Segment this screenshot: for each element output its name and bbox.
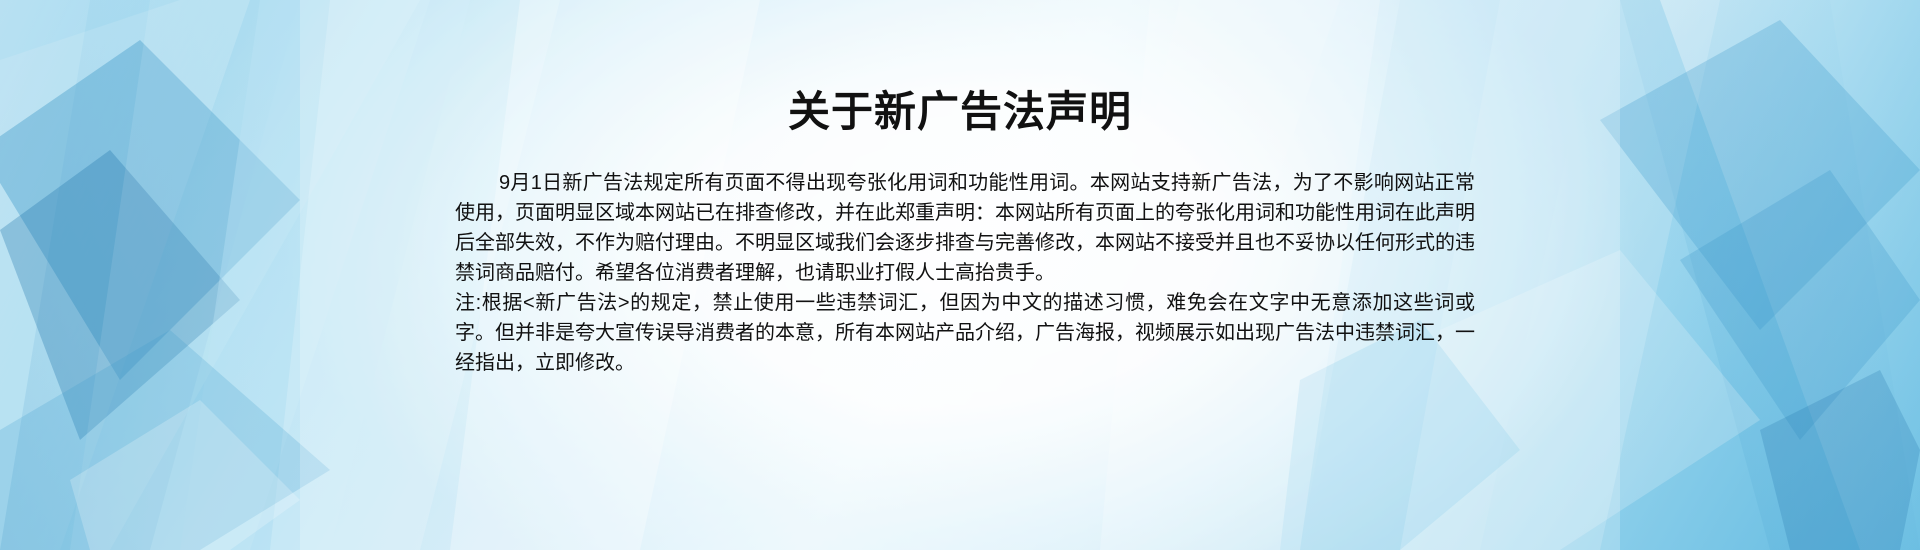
note-paragraph: 注:根据<新广告法>的规定，禁止使用一些违禁词汇，但因为中文的描述习惯，难免会在… — [455, 288, 1475, 378]
statement-paragraph: 9月1日新广告法规定所有页面不得出现夸张化用词和功能性用词。本网站支持新广告法，… — [455, 168, 1475, 288]
announcement-banner: 关于新广告法声明 9月1日新广告法规定所有页面不得出现夸张化用词和功能性用词。本… — [0, 0, 1920, 550]
page-title: 关于新广告法声明 — [0, 88, 1920, 136]
announcement-body: 9月1日新广告法规定所有页面不得出现夸张化用词和功能性用词。本网站支持新广告法，… — [455, 168, 1475, 378]
announcement-content: 关于新广告法声明 9月1日新广告法规定所有页面不得出现夸张化用词和功能性用词。本… — [0, 0, 1920, 550]
